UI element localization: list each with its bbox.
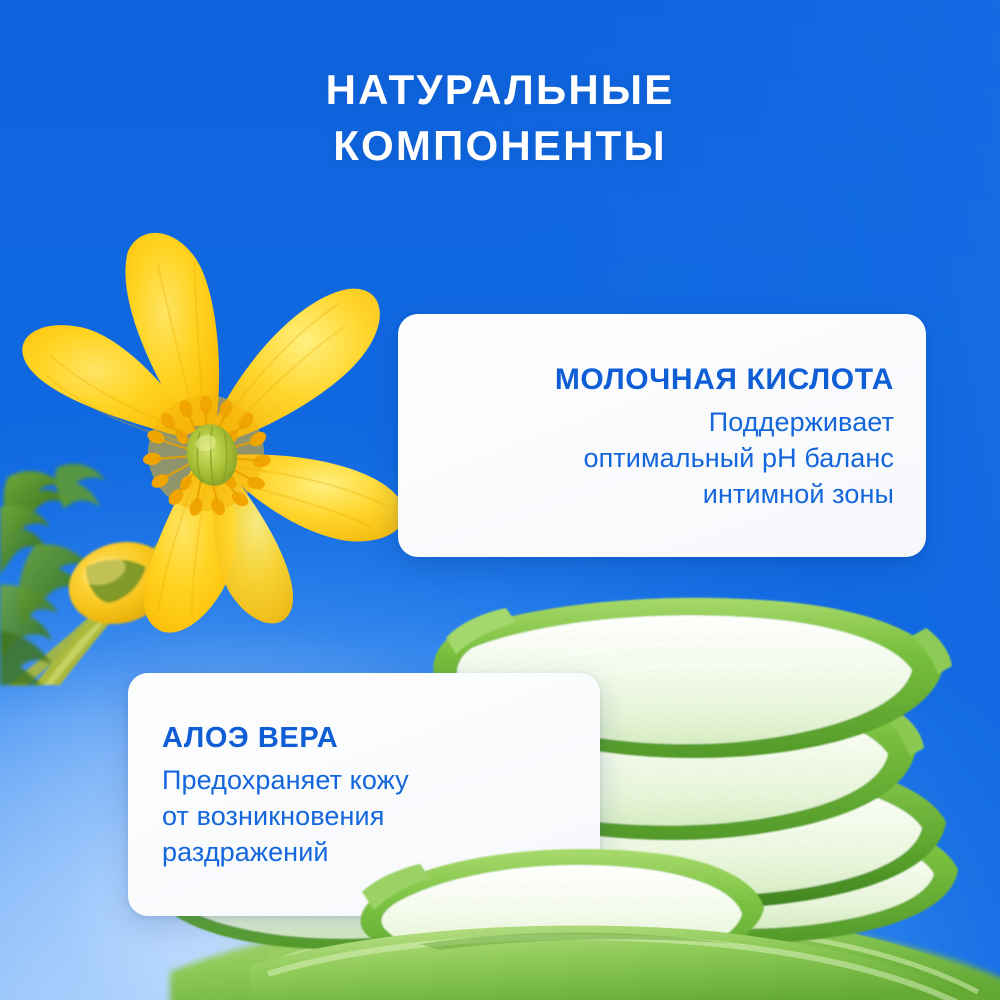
ingredient-body-line: раздражений: [162, 835, 409, 871]
ingredient-card-aloe-vera[interactable]: АЛОЭ ВЕРА Предохраняет кожу от возникнов…: [128, 673, 600, 916]
page-title-line-2: КОМПОНЕНТЫ: [0, 118, 1000, 174]
ingredient-heading-lactic-acid: МОЛОЧНАЯ КИСЛОТА: [555, 362, 894, 397]
ingredient-body-lactic-acid: Поддерживает оптимальный pH баланс интим…: [583, 405, 894, 513]
infographic-canvas: НАТУРАЛЬНЫЕ КОМПОНЕНТЫ МОЛОЧНАЯ КИСЛОТА …: [0, 0, 1000, 1000]
ingredient-heading-aloe-vera: АЛОЭ ВЕРА: [162, 721, 338, 755]
ingredient-body-line: оптимальный pH баланс: [583, 441, 894, 477]
ingredient-card-lactic-acid[interactable]: МОЛОЧНАЯ КИСЛОТА Поддерживает оптимальны…: [398, 314, 926, 557]
page-title: НАТУРАЛЬНЫЕ КОМПОНЕНТЫ: [0, 62, 1000, 175]
ingredient-body-line: от возникновения: [162, 799, 409, 835]
ingredient-card-aloe-vera-content: АЛОЭ ВЕРА Предохраняет кожу от возникнов…: [128, 673, 600, 916]
ingredient-body-line: интимной зоны: [583, 477, 894, 513]
ingredient-card-lactic-acid-content: МОЛОЧНАЯ КИСЛОТА Поддерживает оптимальны…: [398, 314, 926, 557]
ingredient-body-line: Предохраняет кожу: [162, 763, 409, 799]
ingredient-body-aloe-vera: Предохраняет кожу от возникновения раздр…: [162, 763, 409, 871]
ingredient-body-line: Поддерживает: [583, 405, 894, 441]
page-title-line-1: НАТУРАЛЬНЫЕ: [0, 62, 1000, 118]
